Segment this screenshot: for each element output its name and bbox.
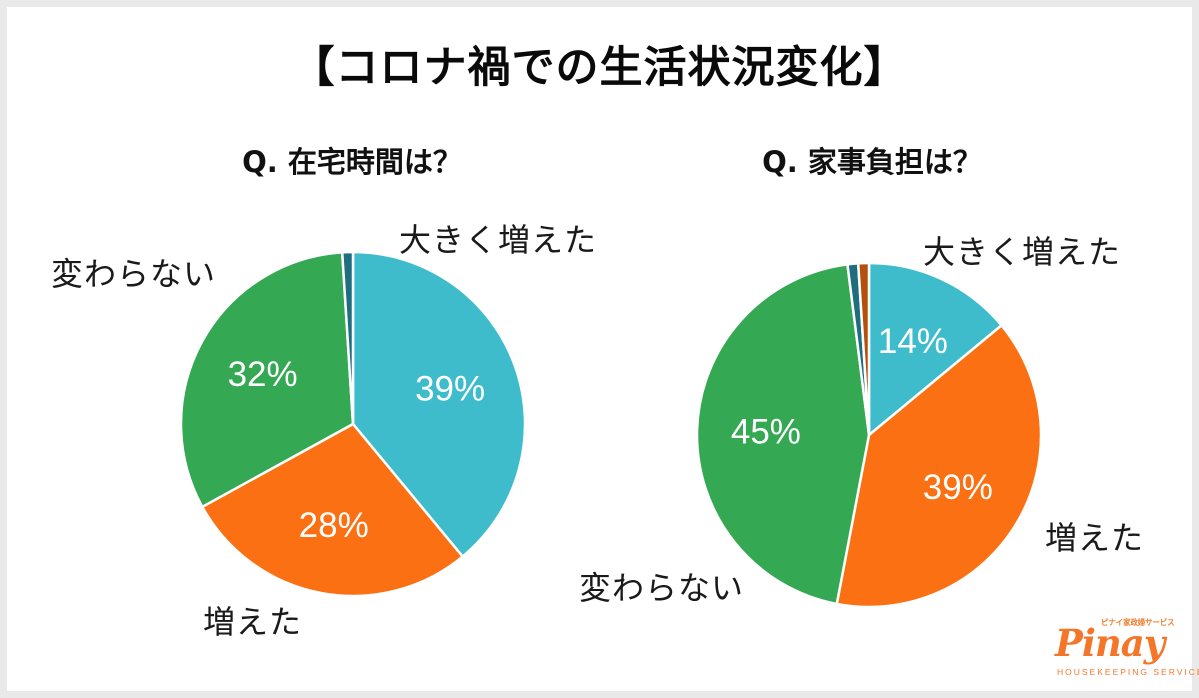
chart-page: 【コロナ禍での生活状況変化】 Q. 在宅時間は？ 39%28%32% 大きく増え…	[0, 0, 1199, 698]
chart-2-callout-increase: 増えた	[1045, 513, 1144, 559]
pie-chart-zaitaku-jikan: 39%28%32%	[180, 251, 526, 597]
chart-1-callout-increase: 増えた	[203, 597, 302, 643]
pie-1-svg: 39%28%32%	[180, 251, 526, 597]
pie-chart-kaji-futan: 14%39%45%	[696, 262, 1042, 608]
pie-slice-value: 14%	[878, 322, 948, 361]
logo-sub-tagline: HOUSEKEEPING SERVICE	[1057, 667, 1199, 677]
pie-slice-value: 45%	[731, 412, 801, 451]
pie-slice-value: 39%	[923, 468, 993, 507]
pie-2-svg: 14%39%45%	[696, 262, 1042, 608]
pie-slice-value: 39%	[415, 370, 485, 409]
chart-1-callout-unchanged: 変わらない	[51, 249, 216, 295]
chart-2-callout-big-increase: 大きく増えた	[923, 227, 1121, 273]
logo-wordmark: Pinay	[1055, 625, 1164, 662]
pie-slice-value: 28%	[299, 506, 369, 545]
pie-slice-value: 32%	[228, 355, 298, 394]
chart-2-title: Q. 家事負担は？	[527, 139, 1199, 181]
chart-1-callout-big-increase: 大きく増えた	[399, 215, 597, 261]
pinay-logo: ピナイ家政婦サービス Pinay HOUSEKEEPING SERVICE	[1055, 615, 1195, 681]
page-title: 【コロナ禍での生活状況変化】	[7, 33, 1192, 95]
chart-2-callout-unchanged: 変わらない	[579, 563, 744, 609]
